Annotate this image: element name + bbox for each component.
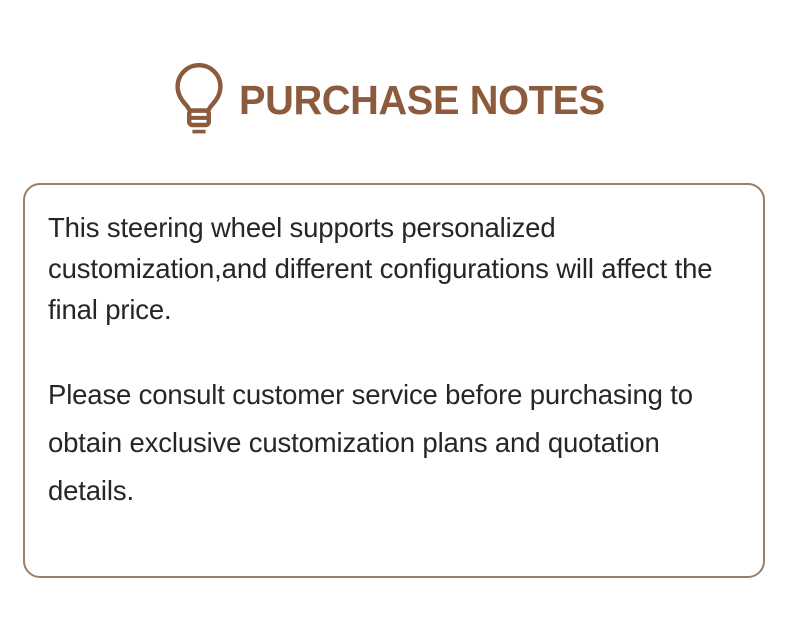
purchase-notes-body: This steering wheel supports personalize… bbox=[48, 207, 749, 515]
note-paragraph-1: This steering wheel supports personalize… bbox=[48, 207, 749, 330]
page-title: PURCHASE NOTES bbox=[239, 80, 605, 121]
purchase-notes-card: This steering wheel supports personalize… bbox=[23, 183, 765, 578]
note-paragraph-2: Please consult customer service before p… bbox=[48, 371, 749, 515]
page-header: PURCHASE NOTES bbox=[0, 55, 790, 145]
lightbulb-icon bbox=[173, 62, 225, 136]
purchase-notes-page: PURCHASE NOTES This steering wheel suppo… bbox=[0, 0, 790, 631]
